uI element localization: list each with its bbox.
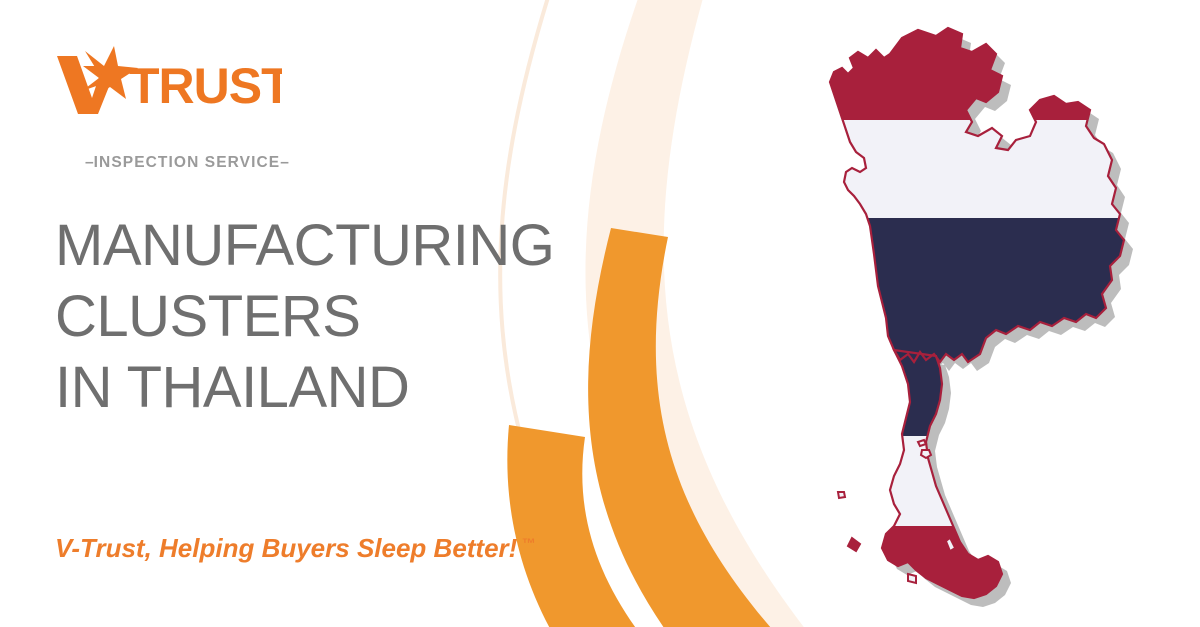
logo-subtitle-dash-right: – xyxy=(280,154,289,171)
navy-band-south xyxy=(790,218,1160,436)
thailand-map xyxy=(790,18,1160,618)
tagline-text: V-Trust, Helping Buyers Sleep Better! xyxy=(55,533,517,563)
orange-arc-inner xyxy=(507,425,712,627)
page-title: MANUFACTURING CLUSTERS IN THAILAND xyxy=(55,210,615,423)
logo-subtitle: –INSPECTION SERVICE– xyxy=(85,154,315,172)
headline-line-2: CLUSTERS xyxy=(55,281,615,352)
white-band-peninsula xyxy=(790,436,1160,526)
logo[interactable]: TRUST –INSPECTION SERVICE– xyxy=(52,46,282,138)
logo-wordmark: TRUST xyxy=(129,58,282,114)
trademark-symbol: ™ xyxy=(521,535,535,551)
tagline: V-Trust, Helping Buyers Sleep Better!™ xyxy=(55,533,535,564)
logo-subtitle-dash-left: – xyxy=(85,154,94,171)
banner-root: TRUST –INSPECTION SERVICE– MANUFACTURING… xyxy=(0,0,1200,627)
headline-line-1: MANUFACTURING xyxy=(55,210,615,281)
logo-mark: TRUST xyxy=(52,46,282,116)
thailand-map-svg xyxy=(790,18,1160,618)
headline-line-3: IN THAILAND xyxy=(55,352,615,423)
logo-subtitle-text: INSPECTION SERVICE xyxy=(94,154,281,171)
